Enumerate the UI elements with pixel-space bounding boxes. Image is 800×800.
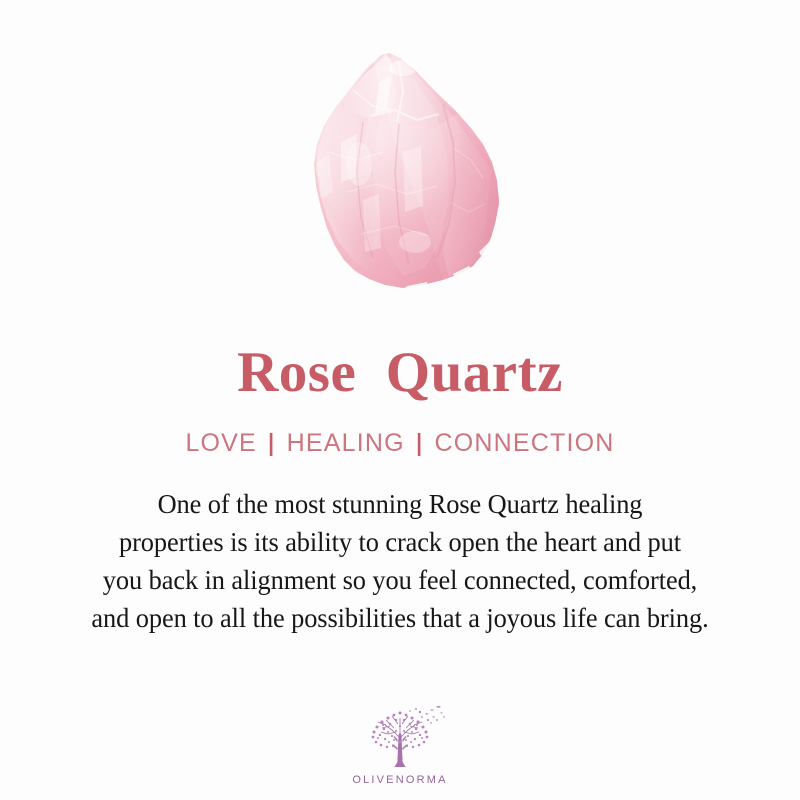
- product-title: Rose Quartz: [237, 344, 563, 401]
- tree-trunk: [392, 734, 408, 767]
- description-line: you back in alignment so you feel connec…: [52, 561, 749, 599]
- description-line: properties is its ability to crack open …: [52, 523, 749, 561]
- product-info-card: Rose Quartz LOVE | HEALING | CONNECTION …: [0, 0, 800, 800]
- flying-birds-icon: [409, 706, 445, 724]
- brand-name: OLIVENORMA: [352, 774, 447, 786]
- rose-quartz-crystal-image: [303, 52, 503, 290]
- keyword-connection: CONNECTION: [435, 429, 615, 458]
- description-line: and open to all the possibilities that a…: [52, 599, 749, 637]
- keyword-love: LOVE: [185, 429, 257, 458]
- brand-logo: OLIVENORMA: [0, 704, 800, 786]
- rose-quartz-crystal-icon: [303, 52, 503, 290]
- hero-image-area: [0, 0, 800, 300]
- description-line: One of the most stunning Rose Quartz hea…: [52, 485, 749, 523]
- keyword-healing: HEALING: [287, 429, 405, 458]
- keyword-separator-1: |: [267, 429, 277, 458]
- product-description: One of the most stunning Rose Quartz hea…: [52, 485, 749, 637]
- keyword-separator-2: |: [415, 429, 425, 458]
- keyword-tagline: LOVE | HEALING | CONNECTION: [185, 429, 614, 458]
- tree-with-birds-icon: [352, 704, 448, 770]
